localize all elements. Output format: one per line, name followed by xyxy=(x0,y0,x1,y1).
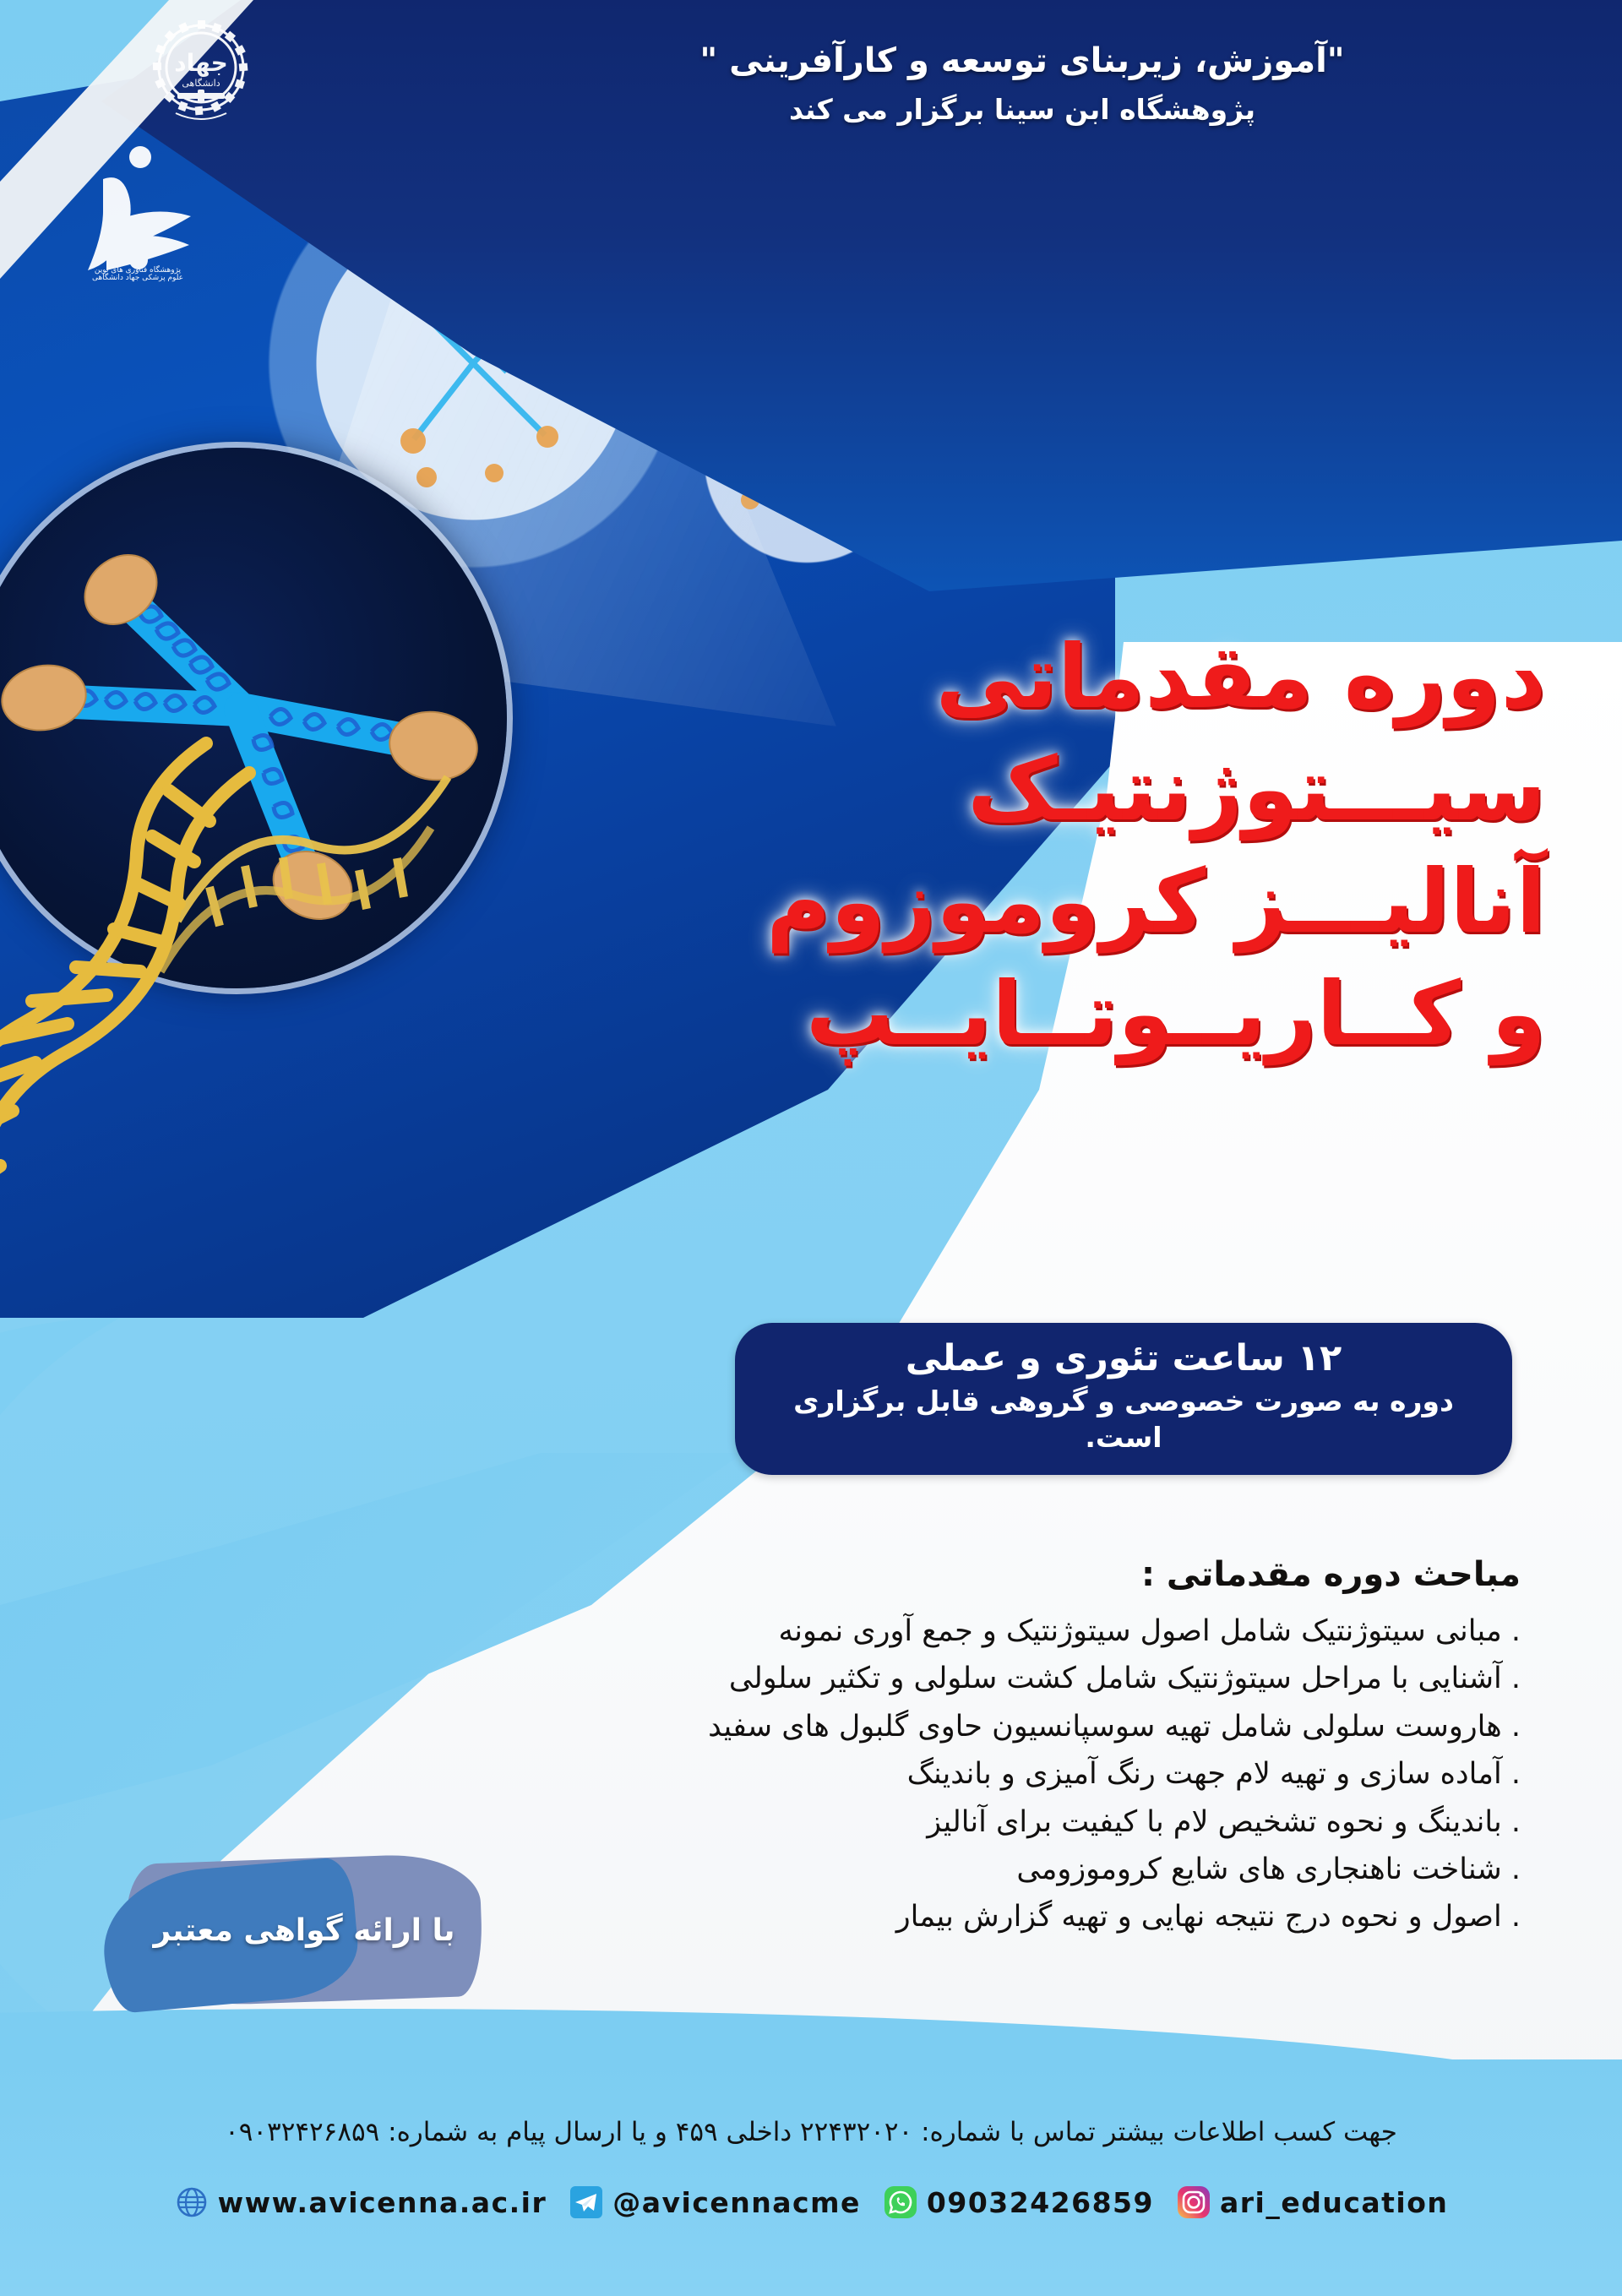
header-text: "آموزش، زیربنای توسعه و کارآفرینی " پژوه… xyxy=(524,41,1521,127)
social-link-website[interactable]: www.avicenna.ac.ir xyxy=(174,2184,547,2220)
organizer: پژوهشگاه ابن سینا برگزار می کند xyxy=(524,93,1521,127)
duration-hours: ۱۲ ساعت تئوری و عملی xyxy=(769,1336,1478,1382)
topics-heading: مباحث دوره مقدماتی : xyxy=(566,1554,1521,1595)
topic-item: . شناخت ناهنجاری های شایع کروموزومی xyxy=(566,1848,1521,1891)
certificate-badge: با ارائه گواهی معتبر xyxy=(127,1858,482,2002)
course-title-line-3: آنالیـــز کروموزوم xyxy=(650,846,1546,958)
social-link-instagram[interactable]: ari_education xyxy=(1176,2184,1448,2220)
topic-item: . آماده سازی و تهیه لام جهت رنگ آمیزی و … xyxy=(566,1753,1521,1795)
whatsapp-label: 09032426859 xyxy=(927,2186,1154,2219)
social-link-whatsapp[interactable]: 09032426859 xyxy=(883,2184,1154,2220)
telegram-icon xyxy=(569,2184,604,2220)
avicenna-research-institute-logo: پژوهشگاه فناوری های نوین علوم پزشکی جهاد… xyxy=(66,142,210,284)
globe-icon xyxy=(174,2184,210,2220)
topic-item: . مبانی سیتوژنتیک شامل اصول سیتوژنتیک و … xyxy=(566,1610,1521,1652)
website-label: www.avicenna.ac.ir xyxy=(218,2186,547,2219)
course-title-line-2: سیـــتوژنتیـک xyxy=(650,733,1546,846)
duration-badge: ۱۲ ساعت تئوری و عملی دوره به صورت خصوصی … xyxy=(735,1323,1512,1475)
instagram-label: ari_education xyxy=(1220,2186,1448,2219)
topics-section: مباحث دوره مقدماتی : . مبانی سیتوژنتیک ش… xyxy=(566,1554,1521,1944)
topic-item: . اصول و نحوه درج نتیجه نهایی و تهیه گزا… xyxy=(566,1896,1521,1938)
social-link-telegram[interactable]: @avicennacme xyxy=(569,2184,861,2220)
whatsapp-icon xyxy=(883,2184,918,2220)
svg-text:علوم پزشکی جهاد دانشگاهی: علوم پزشکی جهاد دانشگاهی xyxy=(92,272,183,282)
duration-note: دوره به صورت خصوصی و گروهی قابل برگزاری … xyxy=(769,1384,1478,1456)
contact-line: جهت کسب اطلاعات بیشتر تماس با شماره: ۲۲۴… xyxy=(0,2117,1622,2147)
instagram-icon xyxy=(1176,2184,1211,2220)
dna-helix-ribbon xyxy=(0,726,380,1250)
topic-item: . آشنایی با مراحل سیتوژنتیک شامل کشت سلو… xyxy=(566,1657,1521,1700)
telegram-label: @avicennacme xyxy=(612,2186,861,2219)
slogan: "آموزش، زیربنای توسعه و کارآفرینی " xyxy=(524,41,1521,81)
bottom-band xyxy=(0,2059,1622,2296)
jahad-daneshgahi-logo: جهاد دانشگاهی xyxy=(142,12,260,132)
poster: جهاد دانشگاهی پژوهشگاه فناوری های نوین ع… xyxy=(0,0,1622,2296)
topic-item: . باندینگ و نحوه تشخیص لام با کیفیت برای… xyxy=(566,1801,1521,1843)
topic-item: . هاروست سلولی شامل تهیه سوسپانسیون حاوی… xyxy=(566,1706,1521,1748)
social-links: www.avicenna.ac.ir @avicennacme 09032426… xyxy=(0,2184,1622,2220)
svg-text:دانشگاهی: دانشگاهی xyxy=(182,78,220,89)
course-title: دوره مقدماتی سیـــتوژنتیـک آنالیـــز کرو… xyxy=(650,621,1546,1070)
certificate-badge-label: با ارائه گواهی معتبر xyxy=(127,1858,482,2002)
svg-text:جهاد: جهاد xyxy=(174,49,228,77)
course-title-line-4: و کــاریــوتــایــپ xyxy=(650,958,1546,1070)
course-title-line-1: دوره مقدماتی xyxy=(650,621,1546,733)
